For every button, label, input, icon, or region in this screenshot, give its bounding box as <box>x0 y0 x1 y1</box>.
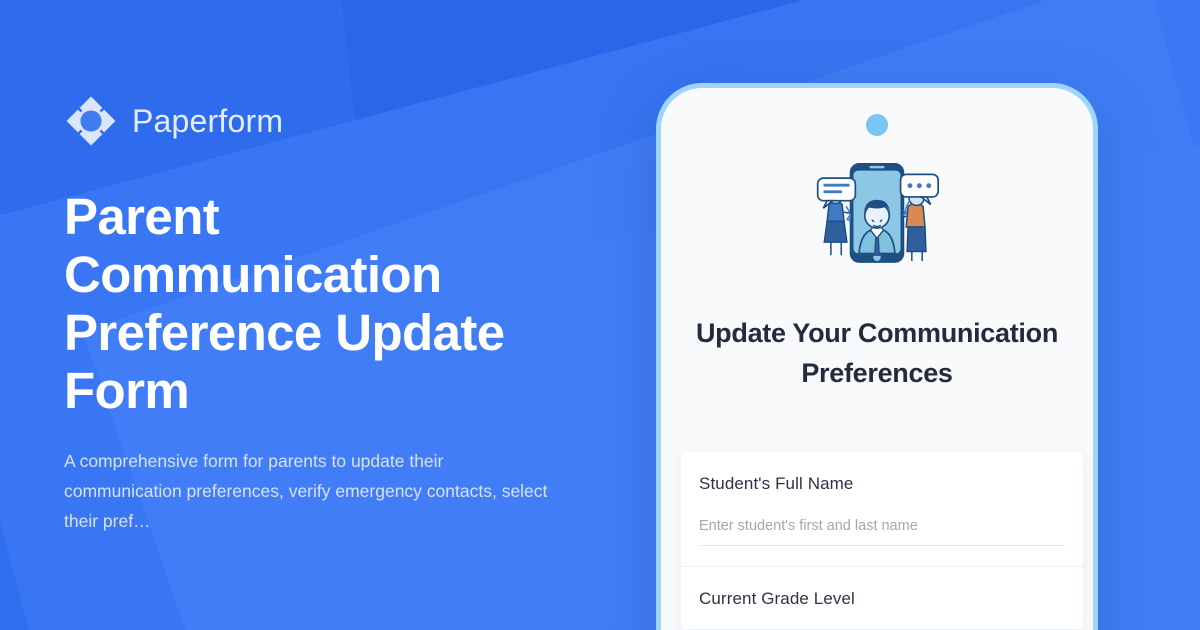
paperform-logo-icon <box>64 94 118 148</box>
social-share-card: Paperform Parent Communication Preferenc… <box>0 0 1200 630</box>
field-label: Current Grade Level <box>699 589 1065 609</box>
parent-teacher-communication-illustration <box>797 146 957 278</box>
camera-dot-icon <box>866 114 888 136</box>
page-title: Parent Communication Preference Update F… <box>64 188 534 420</box>
brand-wordmark: Paperform <box>132 103 283 140</box>
form-title: Update Your Communication Preferences <box>661 313 1093 393</box>
form-field-grade-level[interactable]: Current Grade Level <box>681 567 1083 629</box>
phone-mockup: Update Your Communication Preferences St… <box>656 83 1098 630</box>
brand-lockup: Paperform <box>64 94 604 148</box>
field-label: Student's Full Name <box>699 474 1065 494</box>
illustration-container <box>661 146 1093 278</box>
form-card: Student's Full Name Enter student's firs… <box>681 452 1083 629</box>
page-description: A comprehensive form for parents to upda… <box>64 446 564 536</box>
hero-content: Paperform Parent Communication Preferenc… <box>64 0 604 630</box>
form-field-student-name[interactable]: Student's Full Name Enter student's firs… <box>681 452 1083 567</box>
student-name-input[interactable]: Enter student's first and last name <box>699 518 1065 546</box>
